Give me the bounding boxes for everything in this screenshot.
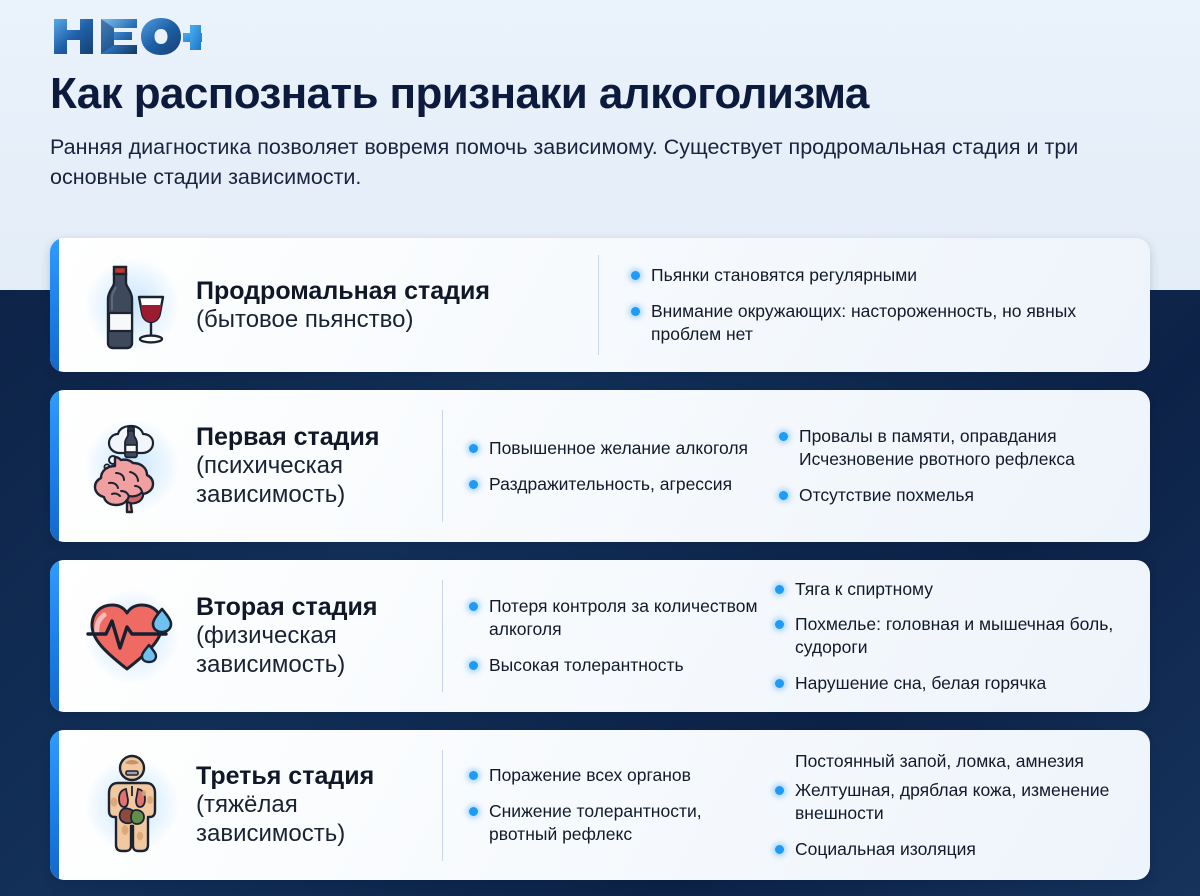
list-item: Снижение толерантности, рвотный рефлекс: [467, 800, 763, 846]
human-body-organs-icon: [82, 753, 182, 857]
card-header: Третья стадия (тяжёлая зависимость): [50, 730, 442, 880]
symptom-column: Тяга к спиртному Похмелье: головная и мы…: [773, 578, 1117, 695]
card-header: Первая стадия (психическая зависимость): [50, 390, 442, 542]
neo-plus-logo-icon: [50, 15, 202, 57]
symptom-column: Провалы в памяти, оправдания Исчезновени…: [777, 425, 1117, 506]
stage-name: Вторая стадия: [196, 592, 442, 622]
list-item: Пьянки становятся регулярными: [629, 264, 1136, 287]
list-item: Желтушная, дряблая кожа, изменение внешн…: [773, 779, 1117, 825]
stage-subtitle: (физическая зависимость): [196, 622, 442, 680]
list-item: Похмелье: головная и мышечная боль, судо…: [773, 613, 1117, 659]
card-header: Вторая стадия (физическая зависимость): [50, 560, 442, 712]
list-item: Отсутствие похмелья: [777, 484, 1117, 507]
stage-name: Третья стадия: [196, 761, 442, 791]
list-item: Внимание окружающих: настороженность, но…: [629, 300, 1136, 346]
list-item: Нарушение сна, белая горячка: [773, 672, 1117, 695]
card-header: Продромальная стадия (бытовое пьянство): [50, 238, 598, 372]
stage-card-second[interactable]: Вторая стадия (физическая зависимость) П…: [50, 560, 1150, 712]
list-item: Повышенное желание алкоголя: [467, 437, 767, 460]
stage-name: Продромальная стадия: [196, 276, 490, 306]
symptom-columns: Пьянки становятся регулярными Внимание о…: [599, 238, 1150, 372]
stage-subtitle: (бытовое пьянство): [196, 306, 490, 335]
page-header: Как распознать признаки алкоголизма Ранн…: [50, 0, 1170, 193]
symptom-column: Повышенное желание алкоголя Раздражитель…: [467, 437, 767, 496]
card-titles: Первая стадия (психическая зависимость): [196, 422, 442, 510]
brain-with-bottle-thought-icon: [82, 414, 182, 518]
stage-card-prodromal[interactable]: Продромальная стадия (бытовое пьянство) …: [50, 238, 1150, 372]
page-title: Как распознать признаки алкоголизма: [50, 70, 1170, 118]
list-item: Социальная изоляция: [773, 838, 1117, 861]
list-item: Тяга к спиртному: [773, 578, 1117, 601]
brand-logo: [50, 14, 1170, 58]
stage-card-first[interactable]: Первая стадия (психическая зависимость) …: [50, 390, 1150, 542]
stage-subtitle: (тяжёлая зависимость): [196, 791, 442, 849]
list-item: Раздражительность, агрессия: [467, 473, 767, 496]
wine-bottle-and-glass-icon: [82, 253, 182, 357]
symptom-columns: Повышенное желание алкоголя Раздражитель…: [443, 390, 1150, 542]
card-titles: Вторая стадия (физическая зависимость): [196, 592, 442, 680]
heart-with-pulse-and-sweat-icon: [82, 584, 182, 688]
symptom-column: Поражение всех органов Снижение толерант…: [467, 764, 763, 845]
stage-name: Первая стадия: [196, 422, 442, 452]
stage-card-third[interactable]: Третья стадия (тяжёлая зависимость) Пора…: [50, 730, 1150, 880]
stage-cards-list: Продромальная стадия (бытовое пьянство) …: [50, 238, 1150, 880]
list-item: Поражение всех органов: [467, 764, 763, 787]
stage-subtitle: (психическая зависимость): [196, 452, 442, 510]
list-item: Высокая толерантность: [467, 654, 763, 677]
card-titles: Продромальная стадия (бытовое пьянство): [196, 276, 490, 335]
symptom-columns: Поражение всех органов Снижение толерант…: [443, 730, 1150, 880]
symptom-columns: Потеря контроля за количеством алкоголя …: [443, 560, 1150, 712]
page-subtitle: Ранняя диагностика позволяет вовремя пом…: [50, 132, 1080, 193]
list-item: Провалы в памяти, оправдания Исчезновени…: [777, 425, 1117, 471]
list-item: Потеря контроля за количеством алкоголя: [467, 595, 763, 641]
card-titles: Третья стадия (тяжёлая зависимость): [196, 761, 442, 849]
list-item: Постоянный запой, ломка, амнезия: [773, 750, 1117, 773]
symptom-column: Постоянный запой, ломка, амнезия Желтушн…: [773, 750, 1117, 861]
symptom-column: Потеря контроля за количеством алкоголя …: [467, 595, 763, 676]
symptom-column: Пьянки становятся регулярными Внимание о…: [623, 264, 1136, 345]
